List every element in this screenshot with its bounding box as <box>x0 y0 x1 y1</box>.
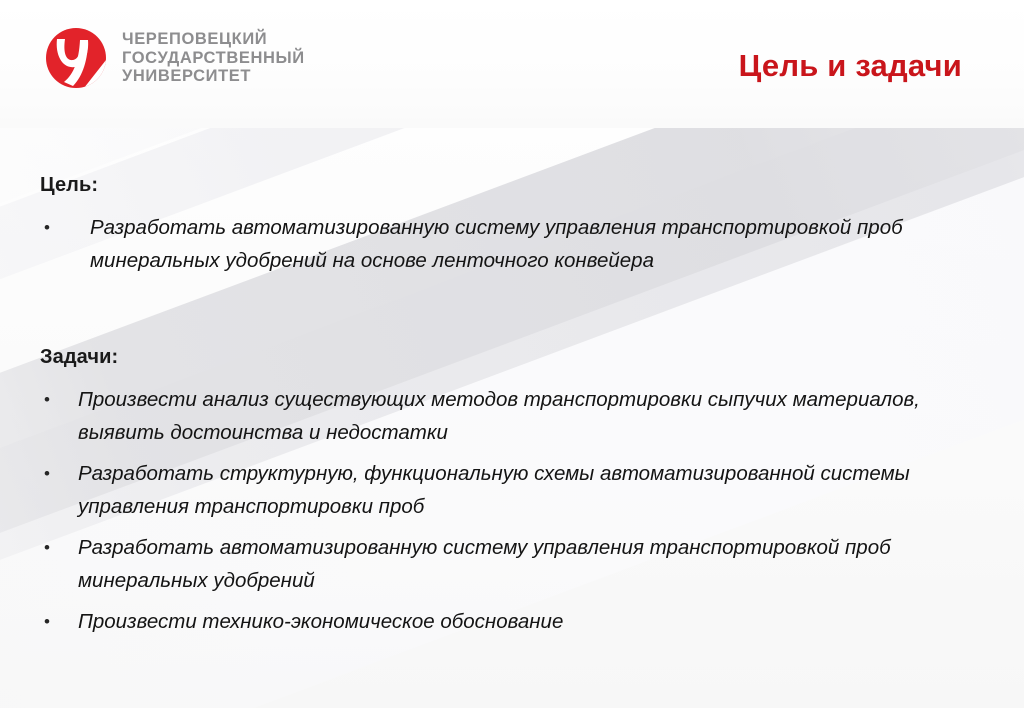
university-name: ЧЕРЕПОВЕЦКИЙ ГОСУДАРСТВЕННЫЙ УНИВЕРСИТЕТ <box>122 30 305 85</box>
university-name-line-1: ЧЕРЕПОВЕЦКИЙ <box>122 30 305 48</box>
task-bullet-item: Разработать автоматизированную систему у… <box>40 531 978 597</box>
goal-section: Цель: Разработать автоматизированную сис… <box>40 174 984 285</box>
university-name-line-2: ГОСУДАРСТВЕННЫЙ <box>122 49 305 67</box>
slide-body: Цель: Разработать автоматизированную сис… <box>0 128 1024 708</box>
tasks-heading: Задачи: <box>40 346 984 369</box>
task-bullet-item: Произвести анализ существующих методов т… <box>40 383 978 449</box>
university-name-line-3: УНИВЕРСИТЕТ <box>122 67 305 85</box>
university-logo: ЧЕРЕПОВЕЦКИЙ ГОСУДАРСТВЕННЫЙ УНИВЕРСИТЕТ <box>44 26 305 90</box>
tasks-bullet-list: Произвести анализ существующих методов т… <box>40 383 984 638</box>
goal-bullet-list: Разработать автоматизированную систему у… <box>40 211 984 277</box>
slide-title: Цель и задачи <box>739 48 962 84</box>
presentation-slide: ЧЕРЕПОВЕЦКИЙ ГОСУДАРСТВЕННЫЙ УНИВЕРСИТЕТ… <box>0 0 1024 708</box>
chsu-emblem-icon <box>44 26 108 90</box>
task-bullet-item: Произвести технико-экономическое обоснов… <box>40 605 978 638</box>
goal-bullet-item: Разработать автоматизированную систему у… <box>40 211 970 277</box>
task-bullet-item: Разработать структурную, функциональную … <box>40 457 978 523</box>
slide-header: ЧЕРЕПОВЕЦКИЙ ГОСУДАРСТВЕННЫЙ УНИВЕРСИТЕТ… <box>0 0 1024 128</box>
goal-heading: Цель: <box>40 174 984 197</box>
tasks-section: Задачи: Произвести анализ существующих м… <box>40 346 984 638</box>
